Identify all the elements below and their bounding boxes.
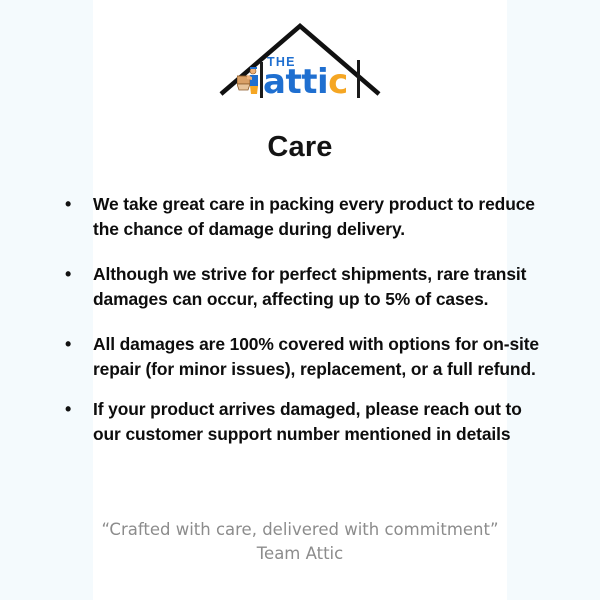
mover-with-furniture-icon <box>237 64 261 96</box>
list-item: • Although we strive for perfect shipmen… <box>60 262 552 312</box>
footer-quote: “Crafted with care, delivered with commi… <box>0 518 600 542</box>
logo-attic-text: attic <box>263 65 348 99</box>
bullet-marker-icon: • <box>60 192 93 217</box>
list-item-text: Although we strive for perfect shipments… <box>93 262 552 312</box>
logo-attic-accent: c <box>328 62 348 102</box>
list-item-text: We take great care in packing every prod… <box>93 192 552 242</box>
footer: “Crafted with care, delivered with commi… <box>0 518 600 566</box>
bullet-marker-icon: • <box>60 332 93 357</box>
list-item: • We take great care in packing every pr… <box>60 192 552 242</box>
list-item: • If your product arrives damaged, pleas… <box>60 397 552 447</box>
list-item-text: All damages are 100% covered with option… <box>93 332 552 382</box>
logo-wordmark: THE attic <box>239 56 385 108</box>
list-item: • All damages are 100% covered with opti… <box>60 332 552 382</box>
footer-signature: Team Attic <box>0 542 600 566</box>
bullet-marker-icon: • <box>60 262 93 287</box>
logo-right-bar <box>357 60 360 98</box>
page-title: Care <box>0 131 600 164</box>
care-policy-card: THE attic Care • We take great care in p… <box>0 0 600 600</box>
logo-inner: THE attic <box>215 18 385 110</box>
list-item-text: If your product arrives damaged, please … <box>93 397 552 447</box>
care-bullet-list: • We take great care in packing every pr… <box>60 192 552 467</box>
bullet-marker-icon: • <box>60 397 93 422</box>
brand-logo: THE attic <box>0 18 600 118</box>
logo-attic-main: atti <box>263 62 328 102</box>
